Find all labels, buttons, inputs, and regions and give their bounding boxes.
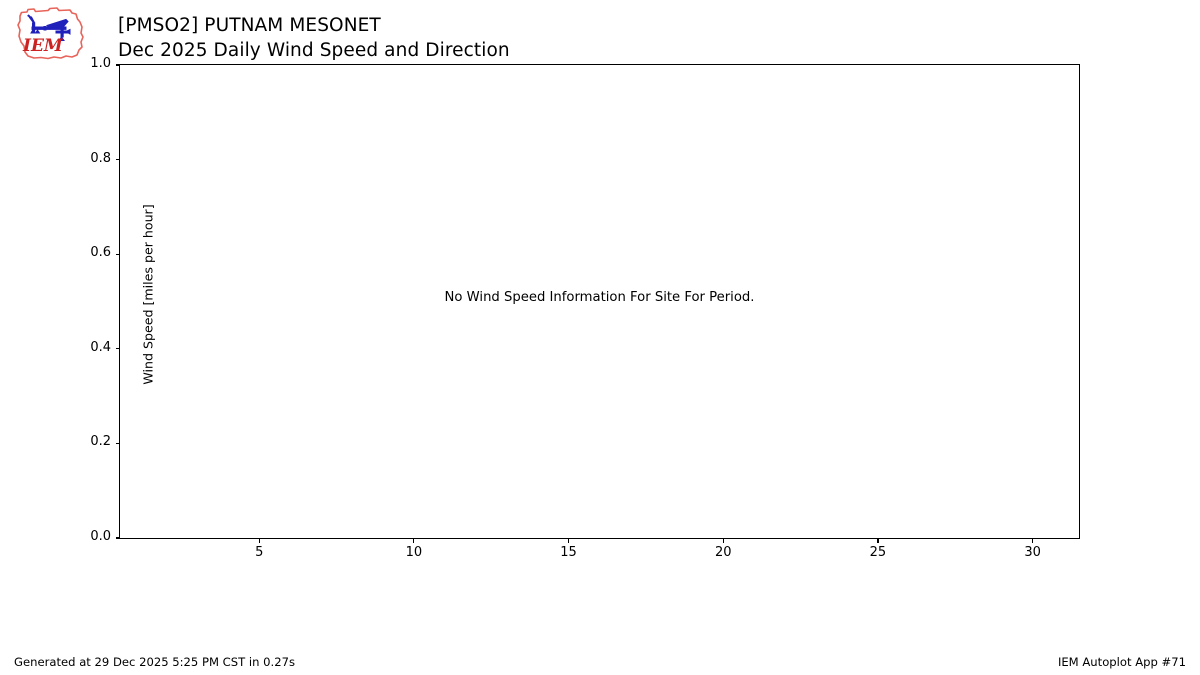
x-tick-label: 15 <box>529 545 609 560</box>
chart-title-line-1: [PMSO2] PUTNAM MESONET <box>118 13 510 38</box>
x-tick-label: 5 <box>219 545 299 560</box>
plot-area: Wind Speed [miles per hour] 0.00.20.40.6… <box>119 64 1080 539</box>
no-data-message: No Wind Speed Information For Site For P… <box>120 290 1079 305</box>
x-tick-label: 25 <box>838 545 918 560</box>
x-tick-label: 10 <box>374 545 454 560</box>
footer-app-label[interactable]: IEM Autoplot App #71 <box>1058 655 1186 669</box>
y-tick-mark <box>116 537 121 538</box>
y-tick-mark <box>116 348 121 349</box>
y-tick-label: 0.4 <box>90 340 111 355</box>
x-tick-mark <box>723 538 724 543</box>
x-tick-mark <box>568 538 569 543</box>
chart-title: [PMSO2] PUTNAM MESONET Dec 2025 Daily Wi… <box>118 13 510 63</box>
footer-generated-text: Generated at 29 Dec 2025 5:25 PM CST in … <box>14 655 295 669</box>
y-tick-label: 0.8 <box>90 151 111 166</box>
x-tick-mark <box>1032 538 1033 543</box>
x-tick-mark <box>877 538 878 543</box>
x-tick-label: 30 <box>993 545 1073 560</box>
y-tick-label: 0.2 <box>90 434 111 449</box>
x-tick-mark <box>413 538 414 543</box>
y-tick-mark <box>116 443 121 444</box>
iem-logo[interactable]: IEM <box>14 6 88 62</box>
x-tick-label: 20 <box>683 545 763 560</box>
y-tick-mark <box>116 64 121 65</box>
y-tick-mark <box>116 159 121 160</box>
iem-wordmark: IEM <box>22 36 64 56</box>
y-tick-mark <box>116 254 121 255</box>
y-tick-label: 0.0 <box>90 529 111 544</box>
chart-title-line-2: Dec 2025 Daily Wind Speed and Direction <box>118 38 510 63</box>
y-tick-label: 0.6 <box>90 245 111 260</box>
y-tick-label: 1.0 <box>90 56 111 71</box>
x-tick-mark <box>259 538 260 543</box>
